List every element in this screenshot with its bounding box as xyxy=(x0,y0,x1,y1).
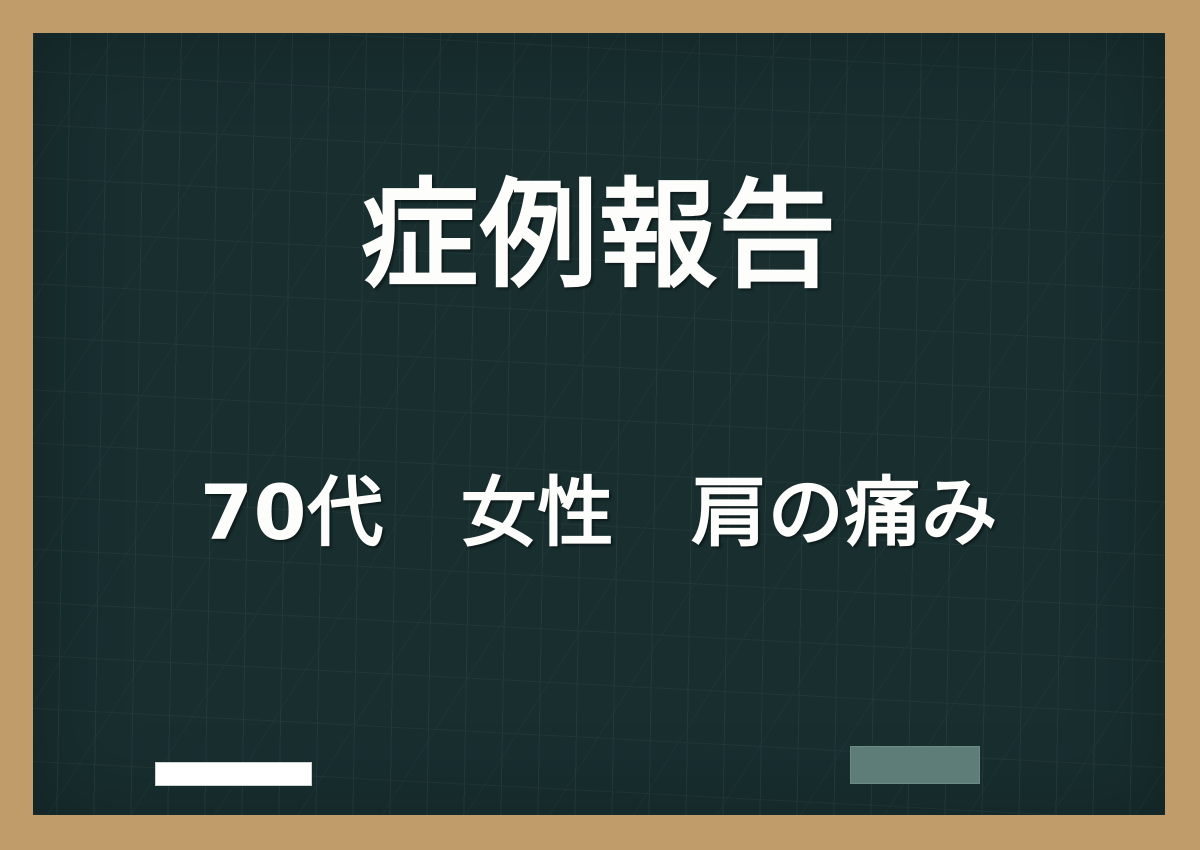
case-summary-line: 70代 女性 肩の痛み xyxy=(33,467,1165,560)
chalkboard-surface: 症例報告 70代 女性 肩の痛み xyxy=(33,33,1165,815)
page-title: 症例報告 xyxy=(33,164,1165,308)
chalkboard-slide: 症例報告 70代 女性 肩の痛み xyxy=(0,0,1200,850)
chalkboard-eraser xyxy=(850,746,980,784)
chalk-stick xyxy=(155,762,312,786)
chalk-dust-texture xyxy=(33,33,1165,815)
